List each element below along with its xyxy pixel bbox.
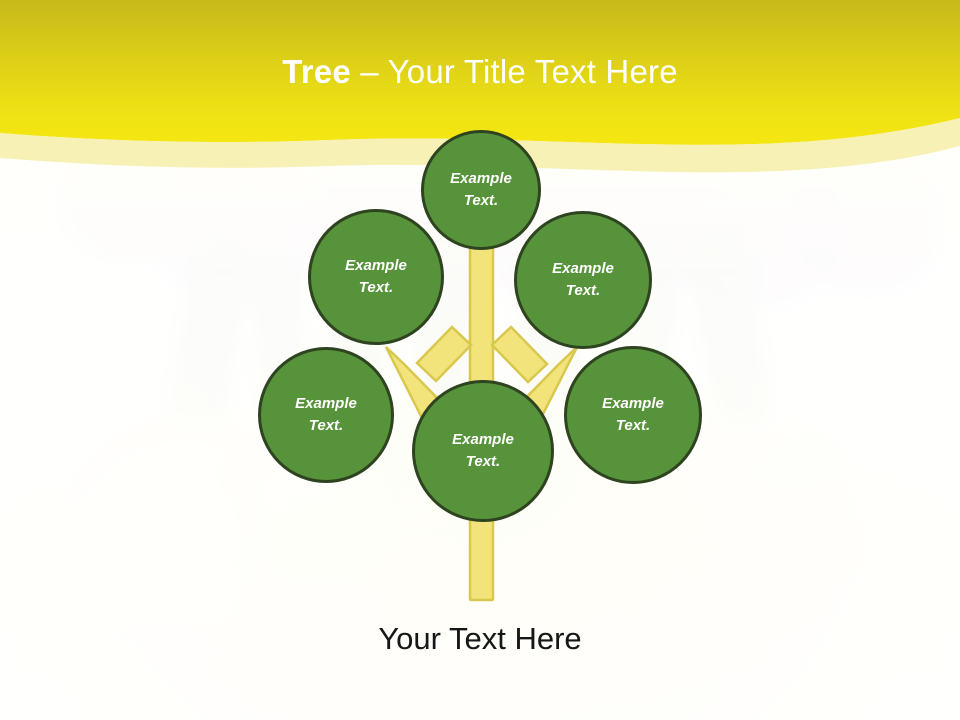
node-upper-left-label: ExampleText.: [320, 255, 432, 299]
node-upper-left[interactable]: ExampleText.: [308, 209, 444, 345]
node-center[interactable]: ExampleText.: [412, 380, 554, 522]
node-lower-left[interactable]: ExampleText.: [258, 347, 394, 483]
title-rest: – Your Title Text Here: [351, 53, 678, 90]
node-top-label: ExampleText.: [432, 168, 530, 212]
node-lower-right[interactable]: ExampleText.: [564, 346, 702, 484]
slide-canvas: Tree – Your Title Text Here ExampleText.…: [0, 0, 960, 720]
branch-upper-right: [492, 327, 547, 382]
title-bold-word: Tree: [282, 53, 351, 90]
footer-text: Your Text Here: [0, 621, 960, 657]
page-title: Tree – Your Title Text Here: [0, 53, 960, 91]
node-lower-right-label: ExampleText.: [576, 393, 690, 437]
node-top[interactable]: ExampleText.: [421, 130, 541, 250]
node-upper-right[interactable]: ExampleText.: [514, 211, 652, 349]
node-center-label: ExampleText.: [425, 429, 542, 473]
tree-branches: [0, 0, 960, 720]
node-lower-left-label: ExampleText.: [270, 393, 382, 437]
node-upper-right-label: ExampleText.: [526, 258, 640, 302]
branch-upper-left: [417, 327, 471, 381]
